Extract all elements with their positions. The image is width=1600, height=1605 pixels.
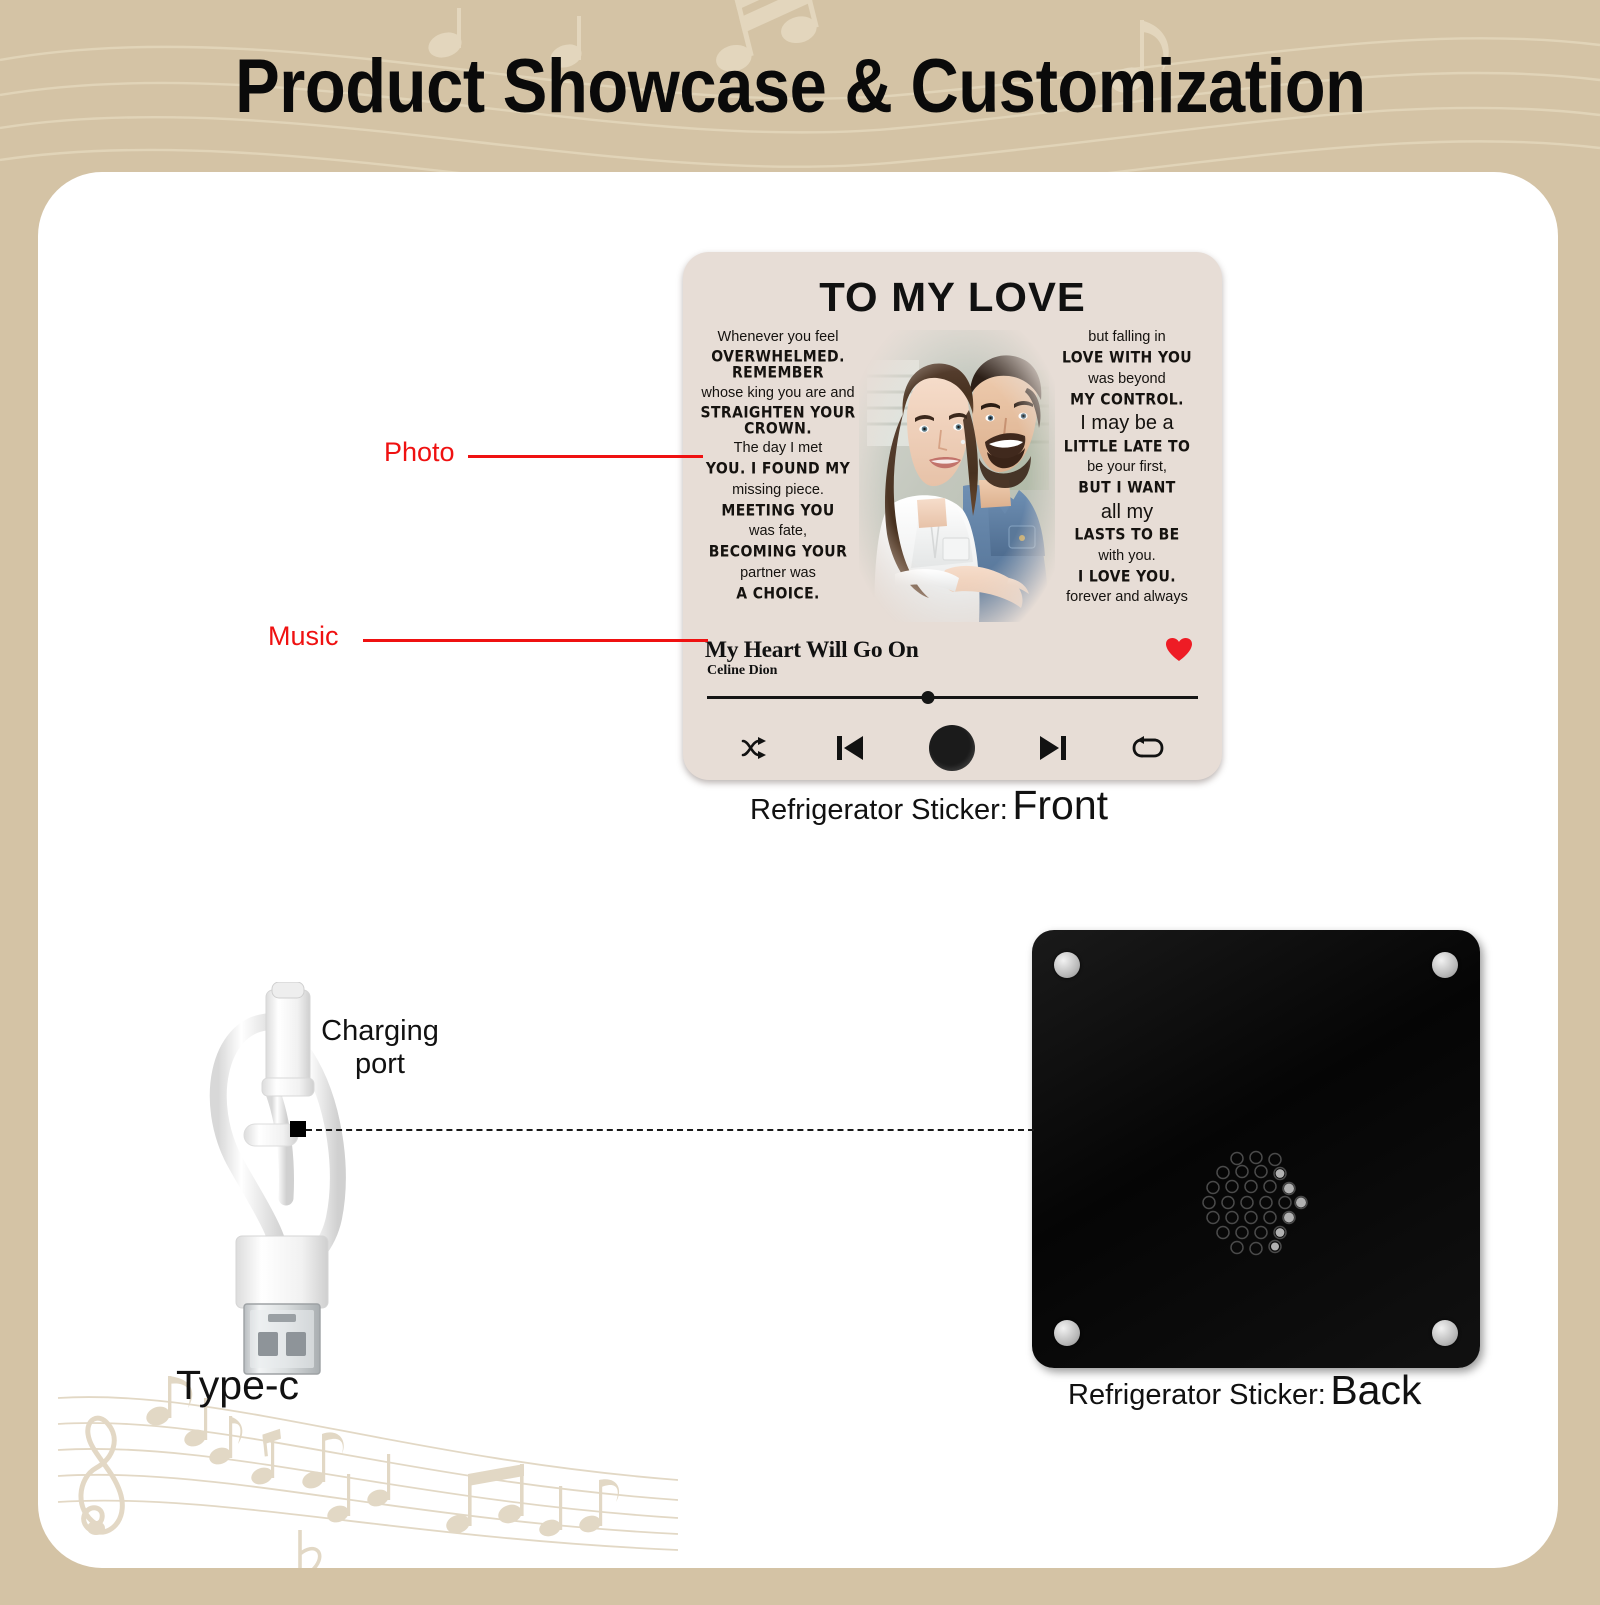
poem-line: I LOVE YOU.: [1044, 569, 1210, 585]
couple-photo[interactable]: [859, 330, 1055, 622]
poem-line: A CHOICE.: [695, 586, 861, 602]
poem-line: BECOMING YOUR: [695, 544, 861, 560]
poem-line: BUT I WANT: [1044, 480, 1210, 496]
player-controls: [707, 718, 1198, 778]
front-caption-value: Front: [1012, 782, 1108, 828]
callout-music-line: [363, 639, 708, 642]
content-panel: TO MY LOVE: [38, 172, 1558, 1568]
poem-line: YOU. I FOUND MY: [695, 461, 861, 477]
charging-port-leader-line: [306, 1129, 1034, 1131]
poem-line: with you.: [1044, 549, 1210, 564]
poem-line: Whenever you feel: [695, 330, 861, 345]
poem-left-column: Whenever you feel OVERWHELMED. REMEMBER …: [695, 330, 861, 607]
poem-line: OVERWHELMED. REMEMBER: [695, 349, 861, 380]
charging-port-line2: port: [300, 1048, 460, 1081]
poem-line: but falling in: [1044, 330, 1210, 345]
progress-bar[interactable]: [707, 696, 1198, 699]
next-track-icon[interactable]: [1039, 735, 1067, 761]
song-artist: Celine Dion: [707, 663, 777, 679]
poem-right-column: but falling in LOVE WITH YOU was beyond …: [1044, 330, 1210, 611]
song-title: My Heart Will Go On: [705, 637, 919, 663]
poem-line: partner was: [695, 566, 861, 581]
callout-photo-line: [468, 455, 703, 458]
poem-line: forever and always: [1044, 590, 1210, 605]
front-caption: Refrigerator Sticker: Front: [750, 782, 1108, 829]
speaker-grille-icon: [1197, 1144, 1315, 1267]
magnet-pad-bottom-right: [1432, 1320, 1458, 1346]
shuffle-icon[interactable]: [741, 737, 771, 759]
usb-a-connector: [236, 1236, 328, 1374]
repeat-icon[interactable]: [1132, 736, 1164, 760]
poem-line: missing piece.: [695, 483, 861, 498]
poem-line: all my: [1044, 502, 1210, 522]
progress-handle[interactable]: [921, 691, 934, 704]
poem-line: The day I met: [695, 441, 861, 456]
previous-track-icon[interactable]: [836, 735, 864, 761]
back-caption-prefix: Refrigerator Sticker:: [1068, 1379, 1326, 1411]
poem-line: was fate,: [695, 524, 861, 539]
magnet-pad-top-left: [1054, 952, 1080, 978]
page-title: Product Showcase & Customization: [235, 43, 1365, 130]
poem-line: I may be a: [1044, 413, 1210, 433]
cable-caption-label: Type-c: [176, 1362, 299, 1408]
poem-line: LITTLE LATE TO: [1044, 439, 1210, 455]
poem-line: MY CONTROL.: [1044, 392, 1210, 408]
card-title: TO MY LOVE: [683, 274, 1222, 321]
poem-line: whose king you are and: [695, 386, 861, 401]
back-sticker-panel[interactable]: [1032, 930, 1480, 1368]
poem-line: was beyond: [1044, 372, 1210, 387]
callout-photo-label: Photo: [384, 437, 455, 468]
front-sticker-card[interactable]: TO MY LOVE: [683, 252, 1222, 780]
poem-line: LASTS TO BE: [1044, 527, 1210, 543]
poem-line: STRAIGHTEN YOUR CROWN.: [695, 405, 861, 436]
play-button[interactable]: [929, 725, 975, 771]
poem-line: LOVE WITH YOU: [1044, 350, 1210, 366]
callout-music-label: Music: [268, 621, 339, 652]
header-banner: Product Showcase & Customization: [0, 0, 1600, 172]
front-caption-prefix: Refrigerator Sticker:: [750, 794, 1008, 826]
back-caption-value: Back: [1330, 1367, 1421, 1413]
cable-caption: Type-c: [176, 1362, 299, 1409]
back-caption: Refrigerator Sticker: Back: [1068, 1367, 1421, 1414]
magnet-pad-top-right: [1432, 952, 1458, 978]
poem-line: MEETING YOU: [695, 503, 861, 519]
charging-port-line1: Charging: [300, 1015, 460, 1048]
charging-port-marker: [290, 1121, 306, 1137]
heart-icon[interactable]: [1166, 638, 1192, 667]
charging-port-label: Charging port: [300, 1015, 460, 1081]
poem-line: be your first,: [1044, 460, 1210, 475]
magnet-pad-bottom-left: [1054, 1320, 1080, 1346]
